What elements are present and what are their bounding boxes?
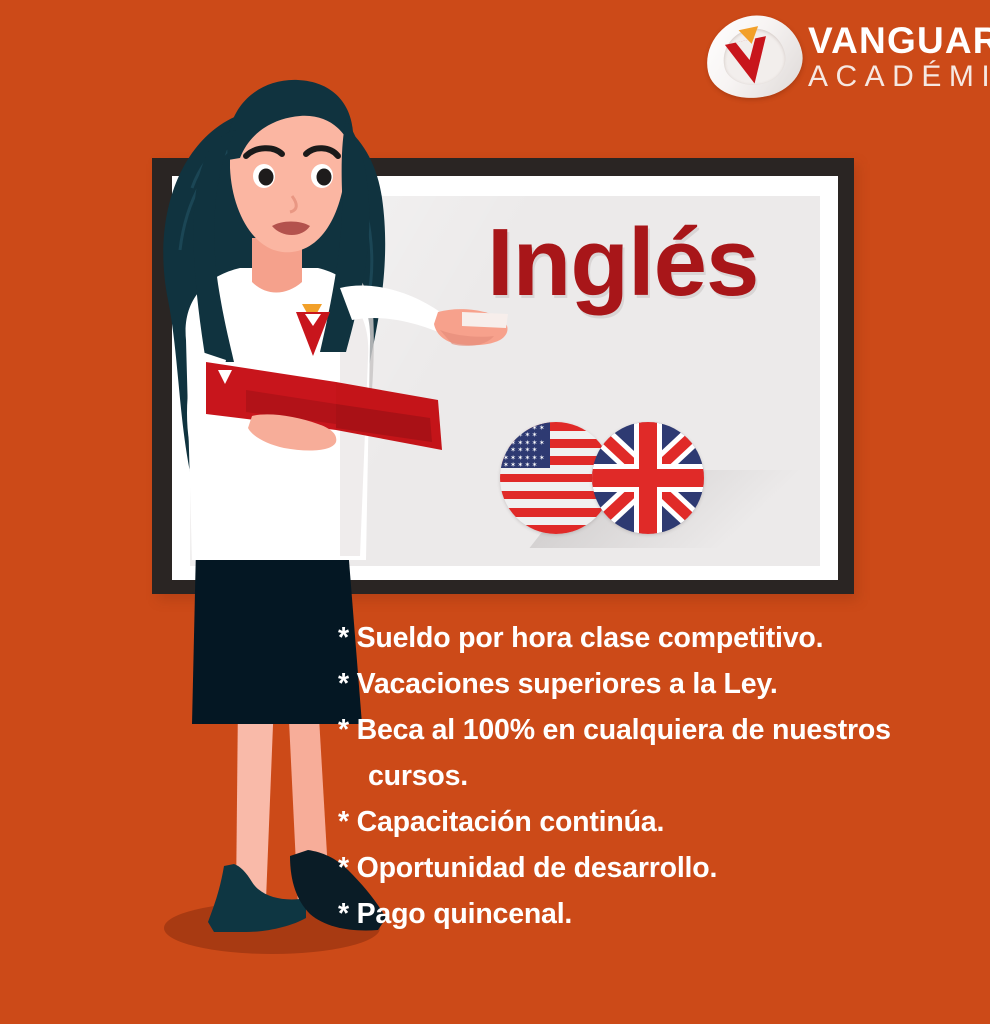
benefit-item-continuation: cursos. [338,753,958,799]
poster-canvas: VANGUARDIA ACADÉMICA Inglés ✶✶✶✶✶✶✶✶✶✶✶✶… [0,0,990,1024]
benefit-item: * Oportunidad de desarrollo. [338,845,958,891]
pointer-marker [462,312,508,328]
pencil-skirt [192,548,362,724]
benefits-list: * Sueldo por hora clase competitivo. * V… [338,615,958,937]
benefit-item: * Vacaciones superiores a la Ley. [338,661,958,707]
benefit-item: * Pago quincenal. [338,891,958,937]
benefit-item: * Beca al 100% en cualquiera de nuestros [338,707,958,753]
benefit-item: * Sueldo por hora clase competitivo. [338,615,958,661]
benefit-item: * Capacitación continúa. [338,799,958,845]
